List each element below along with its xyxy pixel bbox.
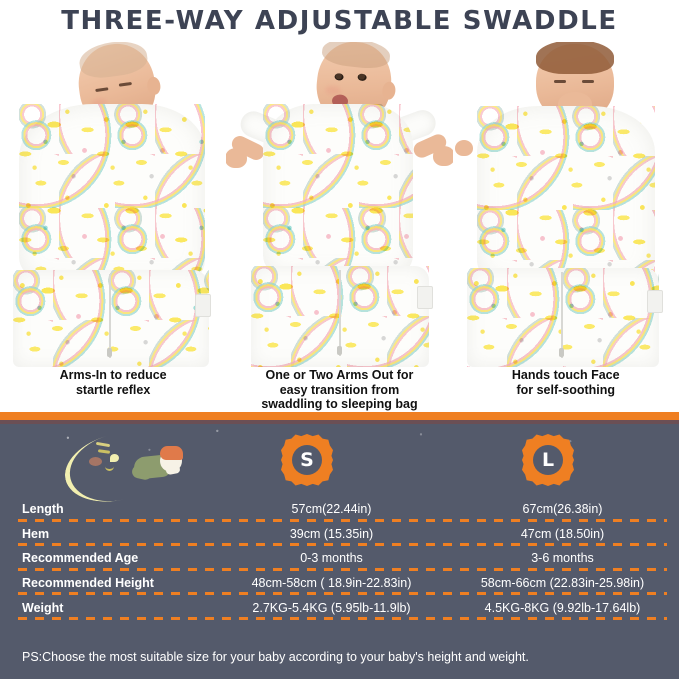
brand-tag	[647, 290, 663, 313]
row-separator	[18, 617, 667, 620]
table-row: Weight 2.7KG-5.4KG (5.95lb-11.9lb) 4.5KG…	[0, 595, 679, 620]
caption-line: for self-soothing	[512, 383, 620, 398]
baby-ear-icon	[146, 76, 161, 96]
table-row: Recommended Height 48cm-58cm ( 18.9in-22…	[0, 571, 679, 596]
baby-hand-right	[433, 146, 452, 166]
row-value-small: 2.7KG-5.4KG (5.95lb-11.9lb)	[216, 601, 447, 615]
brand-tag	[417, 286, 433, 309]
zipper-pull-icon	[559, 348, 564, 357]
zipper-icon	[109, 274, 111, 358]
baby-eye-icon	[95, 87, 108, 91]
moon-baby-hat	[160, 446, 183, 460]
row-label: Recommended Height	[0, 576, 216, 590]
brand-tag	[195, 294, 211, 317]
infographic-page: THREE-WAY ADJUSTABLE SWADDLE	[0, 0, 679, 679]
baby-eye-icon	[358, 73, 368, 81]
swaddle-wrap-body	[19, 104, 205, 282]
photo-baby-arms-in	[0, 42, 226, 367]
row-value-large: 47cm (18.50in)	[447, 527, 678, 541]
sleeping-baby-on-moon-icon	[56, 428, 216, 506]
baby-eye-icon	[335, 73, 345, 81]
row-value-small: 0-3 months	[216, 551, 447, 565]
moon-mouth-icon	[105, 464, 114, 471]
caption-row: Arms-In to reduce startle reflex One or …	[0, 368, 679, 412]
size-note: PS:Choose the most suitable size for you…	[22, 650, 529, 664]
caption-line: One or Two Arms Out for	[261, 368, 417, 383]
badge-letter: S	[300, 451, 314, 470]
row-value-small: 39cm (15.35in)	[216, 527, 447, 541]
swaddle-pattern	[477, 106, 655, 282]
baby-eye-icon	[582, 80, 594, 83]
table-row: Hem 39cm (15.35in) 47cm (18.50in)	[0, 522, 679, 547]
baby-ear-icon	[382, 81, 397, 100]
photo-baby-arms-out	[226, 42, 452, 367]
baby-hair-icon	[536, 42, 614, 74]
row-label: Recommended Age	[0, 551, 216, 565]
caption-line: Hands touch Face	[512, 368, 620, 383]
badge-inner: L	[533, 445, 563, 475]
zipper-pull-icon	[337, 346, 342, 355]
table-row: Length 57cm(22.44in) 67cm(26.38in)	[0, 497, 679, 522]
row-value-large: 58cm-66cm (22.83in-25.98in)	[447, 576, 678, 590]
zipper-icon	[339, 270, 341, 356]
baby-eye-icon	[119, 82, 132, 86]
swaddle-wrap-body	[263, 104, 413, 276]
moon-baby-arm	[165, 465, 180, 475]
baby-hand-side	[455, 140, 473, 156]
zipper-icon	[561, 272, 563, 358]
badge-inner: S	[292, 445, 322, 475]
row-value-small: 57cm(22.44in)	[216, 502, 447, 516]
caption-line: swaddling to sleeping bag	[261, 397, 417, 412]
moon-brow-icon	[96, 442, 110, 447]
row-value-large: 4.5KG-8KG (9.92lb-17.64lb)	[447, 601, 678, 615]
row-label: Weight	[0, 601, 216, 615]
moon-eye-icon	[98, 449, 110, 454]
row-label: Hem	[0, 527, 216, 541]
caption-arms-out: One or Two Arms Out for easy transition …	[226, 368, 452, 412]
swaddle-pattern	[19, 104, 205, 282]
swaddle-wrap-body	[477, 106, 655, 282]
size-badge-s: S	[281, 434, 333, 486]
size-chart-panel: S L Length 57cm(22.44in) 67cm(26.38in) H…	[0, 424, 679, 679]
table-row: Recommended Age 0-3 months 3-6 months	[0, 546, 679, 571]
baby-hair-icon	[321, 42, 392, 71]
baby-eye-icon	[554, 80, 566, 83]
baby-hair-icon	[77, 42, 149, 81]
row-value-large: 3-6 months	[447, 551, 678, 565]
photo-baby-hands-to-face	[453, 42, 679, 367]
caption-line: startle reflex	[60, 383, 167, 398]
zipper-pull-icon	[107, 348, 112, 357]
caption-line: Arms-In to reduce	[60, 368, 167, 383]
baby-hand-left	[226, 148, 247, 168]
page-title: THREE-WAY ADJUSTABLE SWADDLE	[0, 6, 679, 36]
swaddle-pattern	[263, 104, 413, 276]
caption-hands-to-face: Hands touch Face for self-soothing	[453, 368, 679, 412]
orange-divider	[0, 412, 679, 420]
moon-baby-icon	[130, 444, 186, 486]
caption-line: easy transition from	[261, 383, 417, 398]
caption-arms-in: Arms-In to reduce startle reflex	[0, 368, 226, 412]
moon-cheek-icon	[89, 457, 102, 466]
badge-letter: L	[542, 451, 554, 470]
row-label: Length	[0, 502, 216, 516]
row-value-large: 67cm(26.38in)	[447, 502, 678, 516]
row-value-small: 48cm-58cm ( 18.9in-22.83in)	[216, 576, 447, 590]
size-table: Length 57cm(22.44in) 67cm(26.38in) Hem 3…	[0, 497, 679, 620]
moon-nose-icon	[110, 454, 119, 462]
size-badge-l: L	[522, 434, 574, 486]
photo-strip	[0, 42, 679, 367]
